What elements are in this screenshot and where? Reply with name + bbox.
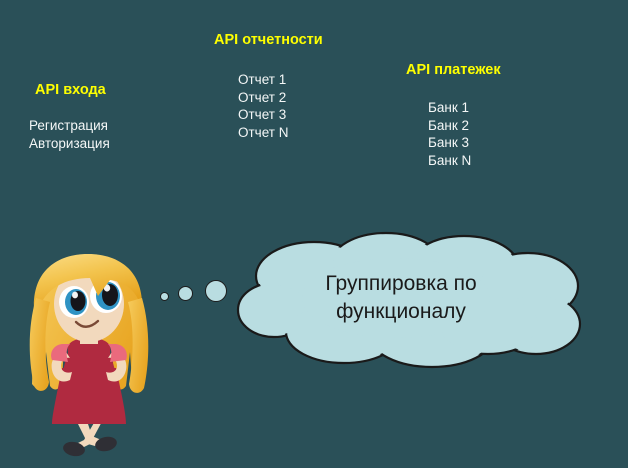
list-item: Отчет 1 <box>238 71 323 89</box>
shoe-right <box>94 435 118 453</box>
group-api-payments: API платежек Банк 1 Банк 2 Банк 3 Банк N <box>406 62 501 169</box>
group-api-login: API входа Регистрация Авторизация <box>35 82 110 152</box>
group-api-reports: API отчетности Отчет 1 Отчет 2 Отчет 3 О… <box>214 32 323 141</box>
thought-bubble-medium <box>178 286 193 301</box>
list-item: Регистрация <box>29 117 110 135</box>
list-item: Банк 2 <box>428 117 501 135</box>
girl-icon <box>14 248 164 460</box>
thought-cloud: Группировка по функционалу <box>236 228 586 373</box>
group-items-api-reports: Отчет 1 Отчет 2 Отчет 3 Отчет N <box>238 71 323 141</box>
list-item: Отчет N <box>238 124 323 142</box>
list-item: Отчет 2 <box>238 89 323 107</box>
list-item: Банк 1 <box>428 99 501 117</box>
group-title-api-reports: API отчетности <box>214 32 323 49</box>
group-title-api-payments: API платежек <box>406 62 501 79</box>
thought-bubble-large <box>205 280 227 302</box>
list-item: Отчет 3 <box>238 106 323 124</box>
slide-canvas: API входа Регистрация Авторизация API от… <box>0 0 628 468</box>
list-item: Банк 3 <box>428 134 501 152</box>
girl-character-illustration <box>14 248 164 460</box>
group-title-api-login: API входа <box>35 82 110 99</box>
list-item: Авторизация <box>29 135 110 153</box>
list-item: Банк N <box>428 152 501 170</box>
cloud-shape-icon <box>236 228 586 373</box>
group-items-api-payments: Банк 1 Банк 2 Банк 3 Банк N <box>428 99 501 169</box>
eye-left-highlight <box>72 292 78 299</box>
group-items-api-login: Регистрация Авторизация <box>29 117 110 152</box>
